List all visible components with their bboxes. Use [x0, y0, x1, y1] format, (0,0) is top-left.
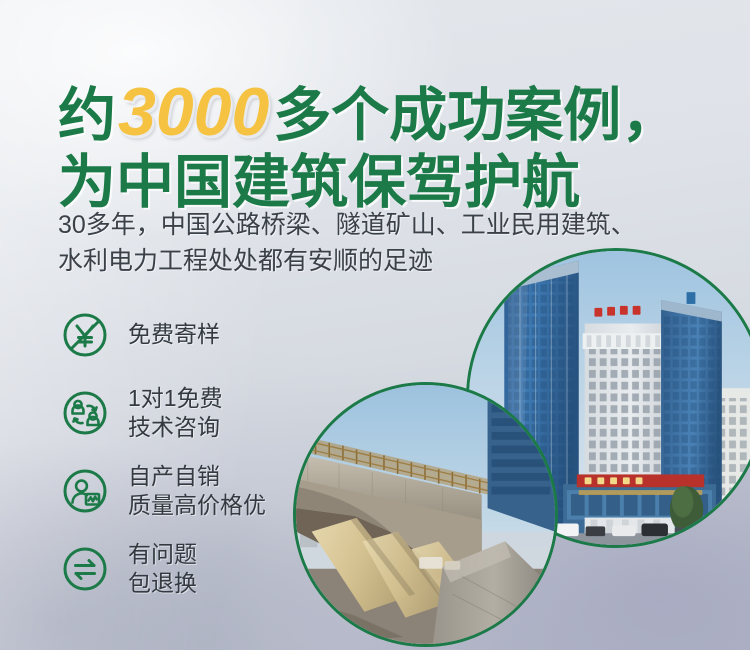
feature-text: 技术咨询 [128, 413, 223, 442]
headline-line-2: 为中国建筑保驾护航 [58, 154, 718, 212]
subtitle: 30多年，中国公路桥梁、隧道矿山、工业民用建筑、 水利电力工程处处都有安顺的足迹 [58, 208, 718, 279]
subtitle-line-2: 水利电力工程处处都有安顺的足迹 [58, 244, 718, 280]
feature-text: 质量高价格优 [128, 491, 266, 520]
feature-text: 有问题 [128, 540, 197, 569]
person-chart-icon [58, 464, 112, 518]
subtitle-line-1: 30多年，中国公路桥梁、隧道矿山、工业民用建筑、 [58, 208, 718, 244]
feature-label-consultation: 1对1免费 技术咨询 [128, 384, 223, 443]
feature-label-free-sample: 免费寄样 [128, 320, 220, 349]
two-people-exchange-icon [58, 386, 112, 440]
headline-suffix: 多个成功案例， [273, 83, 679, 148]
feature-text: 免费寄样 [128, 320, 220, 349]
no-fee-yuan-icon [58, 308, 112, 362]
bridge-photo-art [296, 385, 555, 644]
feature-item-consultation: 1对1免费 技术咨询 [58, 374, 348, 452]
feature-text: 1对1免费 [128, 384, 223, 413]
feature-label-self-produced: 自产自销 质量高价格优 [128, 462, 266, 521]
promo-banner: 约3000多个成功案例， 为中国建筑保驾护航 30多年，中国公路桥梁、隧道矿山、… [0, 0, 750, 650]
headline-number: 3000 [116, 74, 273, 150]
headline-prefix: 约 [58, 83, 116, 148]
feature-label-return-exchange: 有问题 包退换 [128, 540, 197, 599]
feature-text: 包退换 [128, 569, 197, 598]
bridge-photo [293, 382, 558, 647]
headline: 约3000多个成功案例， 为中国建筑保驾护航 [58, 78, 718, 212]
exchange-arrows-icon [58, 542, 112, 596]
headline-line-1: 约3000多个成功案例， [58, 78, 718, 146]
feature-item-free-sample: 免费寄样 [58, 296, 348, 374]
feature-text: 自产自销 [128, 462, 266, 491]
